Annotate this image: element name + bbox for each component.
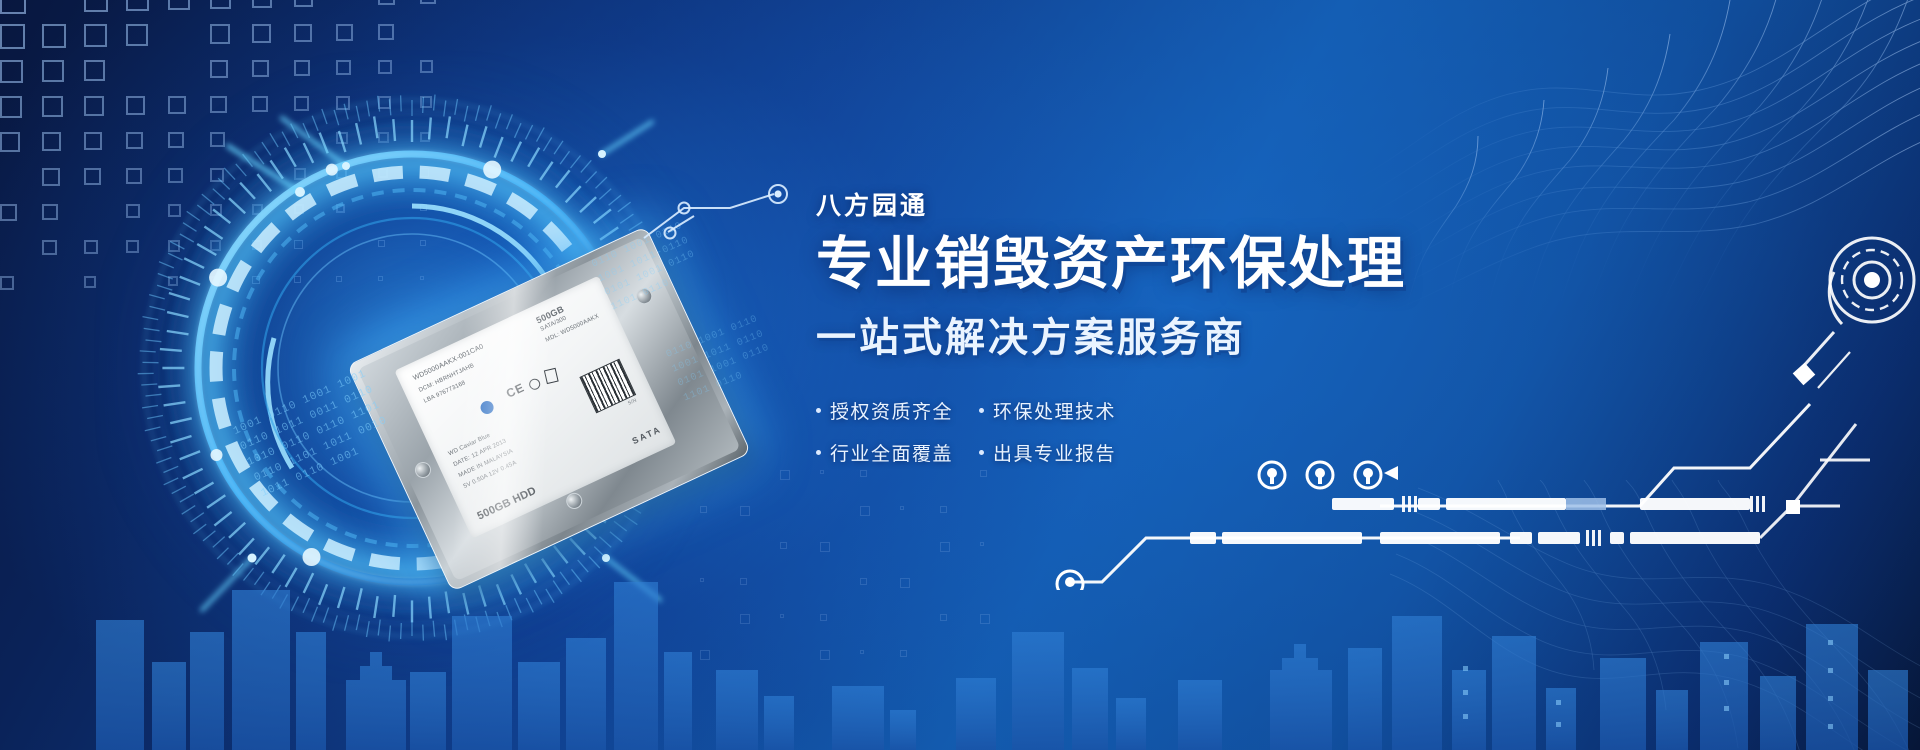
grid-square — [780, 470, 790, 480]
grid-square — [820, 650, 830, 660]
hero-headline: 专业销毁资产环保处理 — [816, 234, 1436, 294]
grid-square — [0, 96, 22, 118]
hero-banner: WD5000AAKX-001CA0 500GB SATA/300 DCM: HB… — [0, 0, 1920, 750]
grid-square — [860, 470, 867, 477]
grid-square — [860, 506, 870, 516]
grid-square — [84, 240, 98, 254]
grid-square — [84, 132, 102, 150]
bullet-dot-icon — [816, 450, 821, 455]
feature-item-0: 授权资质齐全 — [816, 397, 953, 424]
grid-square — [126, 0, 149, 11]
grid-square — [210, 24, 230, 44]
feature-label-2: 行业全面覆盖 — [830, 439, 953, 466]
grid-square — [820, 542, 830, 552]
grid-square — [940, 614, 947, 621]
grid-square — [42, 24, 66, 48]
grid-square — [0, 24, 25, 49]
circuit-disc-icon — [1700, 220, 1920, 450]
grid-square — [336, 24, 353, 41]
pointer-connector — [640, 176, 860, 246]
grid-square — [700, 578, 704, 582]
grid-square — [0, 0, 26, 14]
grid-square — [0, 60, 23, 83]
grid-square — [940, 542, 950, 552]
grid-square — [294, 24, 312, 42]
grid-square — [42, 132, 61, 151]
grid-square — [42, 60, 64, 82]
grid-square — [378, 24, 394, 40]
grid-square — [210, 0, 231, 9]
grid-square — [700, 506, 707, 513]
grid-square — [0, 132, 20, 152]
grid-square — [740, 506, 750, 516]
bullet-dot-icon — [816, 408, 821, 413]
grid-square — [940, 506, 947, 513]
grid-square — [168, 0, 190, 10]
square-grid-pattern-secondary — [700, 470, 1030, 690]
grid-square — [42, 96, 63, 117]
grid-square — [860, 578, 867, 585]
grid-square — [900, 578, 910, 588]
feature-label-0: 授权资质齐全 — [830, 397, 953, 424]
grid-square — [126, 24, 148, 46]
bullet-dot-icon — [979, 450, 984, 455]
bullet-dot-icon — [979, 408, 984, 413]
grid-square — [860, 650, 864, 654]
grid-square — [820, 614, 827, 621]
grid-square — [740, 614, 750, 624]
brand-name: 八方园通 — [816, 186, 1436, 222]
grid-square — [0, 276, 14, 290]
grid-square — [820, 470, 824, 474]
grid-square — [42, 168, 60, 186]
grid-square — [780, 542, 787, 549]
grid-square — [252, 0, 272, 8]
grid-square — [42, 204, 58, 220]
grid-square — [84, 24, 107, 47]
grid-square — [980, 614, 990, 624]
grid-square — [252, 24, 271, 43]
grid-square — [294, 0, 313, 7]
grid-square — [84, 276, 96, 288]
grid-square — [42, 240, 57, 255]
grid-square — [900, 506, 904, 510]
grid-square — [84, 168, 101, 185]
grid-square — [84, 96, 104, 116]
grid-square — [900, 650, 907, 657]
grid-square — [378, 0, 395, 5]
feature-item-2: 行业全面覆盖 — [816, 439, 953, 466]
grid-square — [84, 0, 108, 12]
grid-square — [420, 0, 436, 4]
grid-square — [740, 578, 747, 585]
grid-square — [980, 470, 987, 477]
grid-square — [980, 542, 984, 546]
grid-square — [700, 650, 710, 660]
grid-square — [0, 204, 17, 221]
grid-square — [780, 614, 784, 618]
